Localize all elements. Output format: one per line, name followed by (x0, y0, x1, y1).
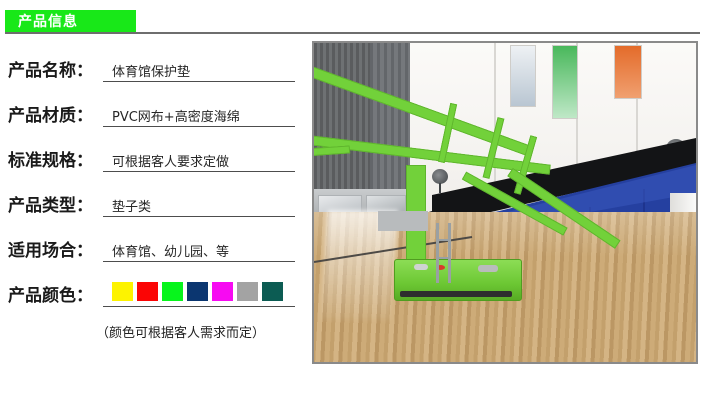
spec-label: 适用场合： (8, 236, 93, 261)
spec-value: 体育馆、幼儿园、等 (112, 241, 229, 260)
header-divider (5, 32, 700, 34)
spec-label: 标准规格： (8, 146, 93, 171)
color-swatch-magenta (212, 282, 233, 301)
spec-row-product-color: 产品颜色： (0, 275, 300, 320)
spec-row-product-usage: 适用场合： 体育馆、幼儿园、等 (0, 230, 300, 275)
photo-ladder-rail (448, 223, 451, 283)
product-photo (314, 43, 696, 362)
spec-value: 垫子类 (112, 196, 151, 215)
spec-row-product-name: 产品名称： 体育馆保护垫 (0, 50, 300, 95)
color-swatch-yellow (112, 282, 133, 301)
spec-row-product-type: 产品类型： 垫子类 (0, 185, 300, 230)
photo-hoop-fitting (414, 264, 428, 270)
spec-label: 产品名称： (8, 56, 93, 81)
photo-ladder-step (436, 239, 450, 241)
color-swatch-navy-blue (187, 282, 208, 301)
color-note: （颜色可根据客人需求而定） (96, 322, 265, 341)
spec-label: 产品类型： (8, 191, 93, 216)
spec-underline (103, 81, 295, 82)
photo-bench (378, 211, 428, 231)
spec-value: PVC网布+高密度海绵 (112, 106, 240, 125)
color-swatch-teal-green (262, 282, 283, 301)
color-swatch-row (112, 282, 283, 301)
spec-row-product-spec: 标准规格： 可根据客人要求定做 (0, 140, 300, 185)
spec-underline (103, 306, 295, 307)
spec-underline (103, 216, 295, 217)
spec-value: 可根据客人要求定做 (112, 151, 229, 170)
product-photo-frame (312, 41, 698, 364)
section-banner: 产品信息 (5, 10, 136, 32)
spec-underline (103, 261, 295, 262)
spec-list: 产品名称： 体育馆保护垫 产品材质： PVC网布+高密度海绵 标准规格： 可根据… (0, 50, 300, 320)
spec-value: 体育馆保护垫 (112, 61, 190, 80)
spec-label: 产品材质： (8, 101, 93, 126)
spec-underline (103, 126, 295, 127)
photo-hoop-fitting (478, 265, 498, 272)
spec-underline (103, 171, 295, 172)
color-swatch-red (137, 282, 158, 301)
spec-row-product-material: 产品材质： PVC网布+高密度海绵 (0, 95, 300, 140)
section-title: 产品信息 (18, 13, 78, 29)
photo-ladder-step (436, 257, 450, 259)
spec-label: 产品颜色： (8, 281, 93, 306)
product-info-page: 产品信息 产品名称： 体育馆保护垫 产品材质： PVC网布+高密度海绵 标准规格… (0, 0, 706, 400)
color-swatch-green (162, 282, 183, 301)
photo-hoop-base-shadow (400, 291, 512, 297)
color-swatch-gray (237, 282, 258, 301)
photo-ladder-rail (436, 223, 439, 283)
